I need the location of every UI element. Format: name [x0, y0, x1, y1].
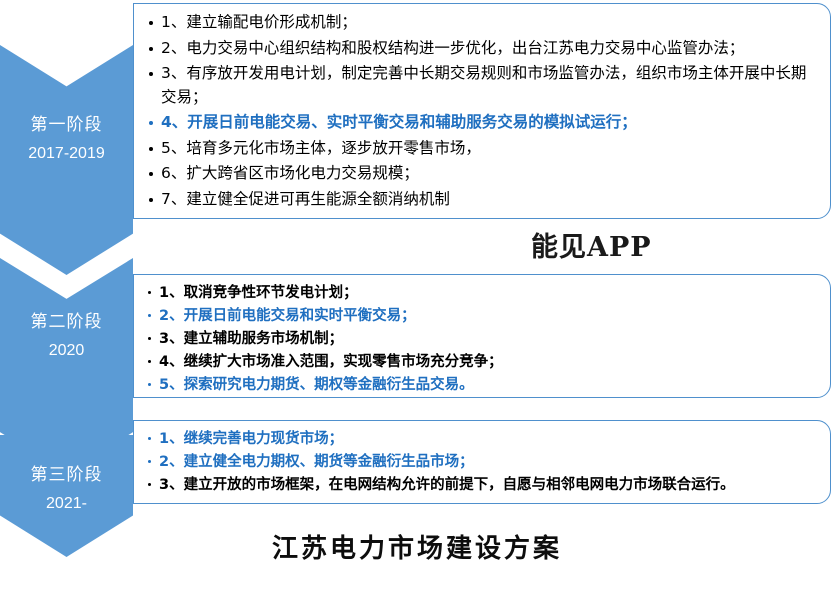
- list-item: 1、建立输配电价形成机制；: [148, 11, 818, 35]
- phase-arrow-2-labels: 第二阶段 2020: [0, 310, 133, 362]
- list-item: 5、培育多元化市场主体，逐步放开零售市场，: [148, 137, 818, 161]
- phase-panel-3: 1、继续完善电力现货市场； 2、建立健全电力期权、期货等金融衍生品市场； 3、建…: [133, 420, 831, 504]
- phase-3-item-list: 1、继续完善电力现货市场； 2、建立健全电力期权、期货等金融衍生品市场； 3、建…: [148, 428, 818, 497]
- watermark-label: 能见APP: [531, 225, 652, 264]
- phase-panel-2: 1、取消竞争性环节发电计划； 2、开展日前电能交易和实时平衡交易； 3、建立辅助…: [133, 274, 831, 398]
- phase-2-item-list: 1、取消竞争性环节发电计划； 2、开展日前电能交易和实时平衡交易； 3、建立辅助…: [148, 282, 818, 397]
- list-item: 4、继续扩大市场准入范围，实现零售市场充分竞争；: [148, 351, 818, 374]
- phase-arrow-3-title: 第三阶段: [0, 463, 133, 488]
- list-item: 3、建立辅助服务市场机制；: [148, 328, 818, 351]
- phase-arrow-2-title: 第二阶段: [0, 310, 133, 335]
- list-item: 3、建立开放的市场框架，在电网结构允许的前提下，自愿与相邻电网电力市场联合运行。: [148, 474, 818, 497]
- phase-arrow-3-labels: 第三阶段 2021-: [0, 463, 133, 515]
- phase-arrow-3-years: 2021-: [0, 492, 133, 515]
- list-item: 7、建立健全促进可再生能源全额消纳机制: [148, 188, 818, 212]
- list-item-highlighted: 1、继续完善电力现货市场；: [148, 428, 818, 451]
- phase-arrow-2-years: 2020: [0, 339, 133, 362]
- list-item: 2、电力交易中心组织结构和股权结构进一步优化，出台江苏电力交易中心监管办法；: [148, 37, 818, 61]
- phase-arrow-1: 第一阶段 2017-2019: [0, 45, 133, 275]
- list-item: 1、取消竞争性环节发电计划；: [148, 282, 818, 305]
- list-item-highlighted: 2、建立健全电力期权、期货等金融衍生品市场；: [148, 451, 818, 474]
- phase-arrow-1-title: 第一阶段: [0, 113, 133, 138]
- list-item: 3、有序放开发用电计划，制定完善中长期交易规则和市场监管办法，组织市场主体开展中…: [148, 62, 818, 109]
- phase-arrow-1-years: 2017-2019: [0, 142, 133, 165]
- diagram-canvas: 第一阶段 2017-2019 1、建立输配电价形成机制； 2、电力交易中心组织结…: [0, 0, 834, 595]
- list-item-highlighted: 2、开展日前电能交易和实时平衡交易；: [148, 305, 818, 328]
- phase-panel-1: 1、建立输配电价形成机制； 2、电力交易中心组织结构和股权结构进一步优化，出台江…: [133, 3, 831, 219]
- phase-1-item-list: 1、建立输配电价形成机制； 2、电力交易中心组织结构和股权结构进一步优化，出台江…: [148, 11, 818, 211]
- list-item-highlighted: 4、开展日前电能交易、实时平衡交易和辅助服务交易的模拟试运行；: [148, 111, 818, 135]
- list-item-highlighted: 5、探索研究电力期货、期权等金融衍生品交易。: [148, 374, 818, 397]
- page-title: 江苏电力市场建设方案: [0, 528, 834, 565]
- list-item: 6、扩大跨省区市场化电力交易规模；: [148, 162, 818, 186]
- phase-arrow-1-labels: 第一阶段 2017-2019: [0, 113, 133, 165]
